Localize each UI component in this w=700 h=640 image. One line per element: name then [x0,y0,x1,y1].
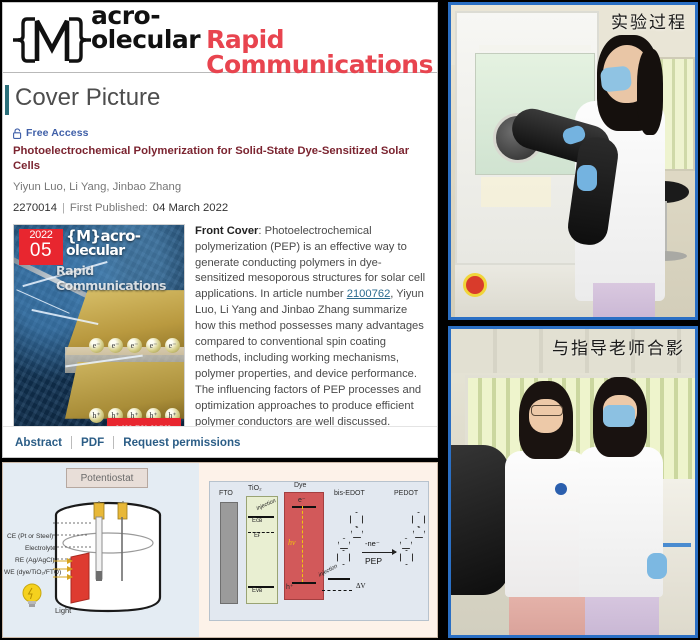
journal-logo[interactable]: acro- olecular Rapid Communications [13,4,433,78]
abstract-article-link[interactable]: 2100762 [347,288,391,300]
publication-row: 2270014 | First Published: 04 March 2022 [13,201,427,216]
emergency-stop-button [463,273,487,297]
person-b-trousers [585,591,659,638]
cover-journal-logo: {M}acro- olecular [66,229,140,259]
person-a-badge [555,483,567,495]
cover-electron-4: e⁻ [146,338,161,353]
article-authors: Yiyun Luo, Li Yang, Jinbao Zhang [13,180,427,195]
label-e-vb: Eᴠʙ [252,588,262,594]
glovebox-inner-items [481,177,551,207]
researcher-hair-side [637,49,663,135]
journal-name-subtitle: Rapid Communications [206,28,433,77]
label-e-f: Eғ [254,533,260,539]
photo-experiment-process[interactable]: 实验过程 [448,2,698,320]
free-access-badge: Free Access [13,127,427,139]
article-title[interactable]: Photoelectrochemical Polymerization for … [13,144,427,173]
photo-1-caption: 实验过程 [611,8,687,33]
cover-issue-badge: 2022 05 [19,229,63,265]
cover-name-line2: olecular [66,244,140,259]
brace-m-logo-icon [13,15,91,67]
article-card: acro- olecular Rapid Communications Cove… [2,2,438,458]
cover-name-line3: Rapid Communications [56,263,184,293]
researcher-gloved-hand-lower [577,165,597,191]
lab-scene-1 [451,5,695,317]
label-delta-v: ΔV [356,582,366,590]
electrochemical-cell-icon [53,501,163,613]
lab-scene-2 [451,329,695,635]
cover-logo-mark: {M} [66,227,100,245]
label-hv: hv [288,538,296,547]
published-date: 04 March 2022 [153,201,228,216]
label-bis-edot: bis-EDOT [334,490,365,497]
energy-level-diagram: FTO TiO₂ Dye bis-EDOT PEDOT Eᴄʙ Eғ Eᴠʙ e… [209,481,429,621]
glovebox-shelf [479,45,591,51]
person-a-glasses [531,405,563,416]
abstract-text: Front Cover: Photoelectrochemical polyme… [195,224,427,444]
screenshot-root: acro- olecular Rapid Communications Cove… [0,0,700,640]
cover-issue-number: 05 [19,241,63,260]
monomer-level-dashed [322,590,352,591]
cover-hole-1: h⁺ [89,408,104,423]
glovebox-gauntlet-2 [448,445,509,595]
label-electrolyte: Electrolyte [25,545,56,552]
journal-name-line2: olecular [91,28,200,53]
page-title-row: Cover Picture [3,83,437,121]
abstract-link[interactable]: Abstract [15,436,71,449]
cover-thumbnail[interactable]: e⁻ e⁻ e⁻ e⁻ e⁻ h⁺ h⁺ h⁺ h⁺ h⁺ 2022 [13,224,185,444]
cover-and-abstract: e⁻ e⁻ e⁻ e⁻ e⁻ h⁺ h⁺ h⁺ h⁺ h⁺ 2022 [3,216,437,444]
researcher-trousers [593,283,655,320]
label-minus-ne: -ne⁻ [365,539,380,548]
label-tio2: TiO₂ [248,485,262,492]
label-fto: FTO [219,490,233,497]
label-light: Light [55,606,71,615]
lock-open-icon [13,128,22,139]
label-reference-electrode: RE (Ag/AgCl) [15,557,55,564]
cover-logo-mark-row: {M}acro- [66,229,140,244]
tio2-fermi-level [248,532,274,533]
person-a-skirt [509,591,585,638]
meta-separator: | [62,201,65,216]
person-b-face-mask [603,405,635,427]
label-dye: Dye [294,482,306,489]
journal-title: acro- olecular Rapid Communications [91,4,433,78]
article-actions: Abstract PDF Request permissions [3,426,437,457]
label-e-cb: Eᴄʙ [252,518,262,524]
article-meta: Free Access Photoelectrochemical Polymer… [3,121,437,216]
abstract-lead: Front Cover [195,225,258,237]
request-permissions-link[interactable]: Request permissions [114,436,249,449]
potentiostat-box: Potentiostat [66,468,148,488]
page-title: Cover Picture [15,83,437,113]
person-a-lab-coat [505,451,587,597]
monomer-level [328,578,350,580]
cover-electron-5: e⁻ [165,338,180,353]
photo-with-supervisor[interactable]: 与指导老师合影 [448,326,698,638]
fto-layer [220,502,238,604]
journal-masthead: acro- olecular Rapid Communications [3,3,437,73]
label-electron: e⁻ [298,496,306,504]
label-counter-electrode: CE (Pt or Steel) [7,533,53,540]
label-hole: h⁺ [286,583,294,591]
light-bulb-icon [21,583,43,609]
dye-homo-level [292,582,316,584]
title-accent-bar [5,85,9,115]
left-column: acro- olecular Rapid Communications Cove… [0,0,442,640]
cover-name-line1: acro- [100,227,140,245]
dye-lumo-level [292,506,316,508]
scheme-figure: Potentiostat [2,462,438,638]
free-access-label: Free Access [26,127,89,139]
label-pep: PEP [365,556,382,566]
cover-electron-2: e⁻ [108,338,123,353]
reaction-arrow [362,552,396,553]
photo-2-caption: 与指导老师合影 [552,334,685,359]
published-label: First Published: [70,201,148,216]
person-b-gloved-hand [647,553,667,579]
researcher-face-mask [600,65,632,92]
label-pedot: PEDOT [394,490,418,497]
article-number: 2270014 [13,201,57,216]
abstract-part2: , Yiyun Luo, Li Yang and Jinbao Zhang su… [195,288,424,427]
label-working-electrode: WE (dye/TiO₂/FTO) [4,569,61,576]
cover-electron-row: e⁻ e⁻ e⁻ e⁻ e⁻ [89,338,180,353]
pdf-link[interactable]: PDF [72,436,113,449]
photon-arrow [302,506,303,582]
cover-electron-3: e⁻ [127,338,142,353]
cover-electron-1: e⁻ [89,338,104,353]
